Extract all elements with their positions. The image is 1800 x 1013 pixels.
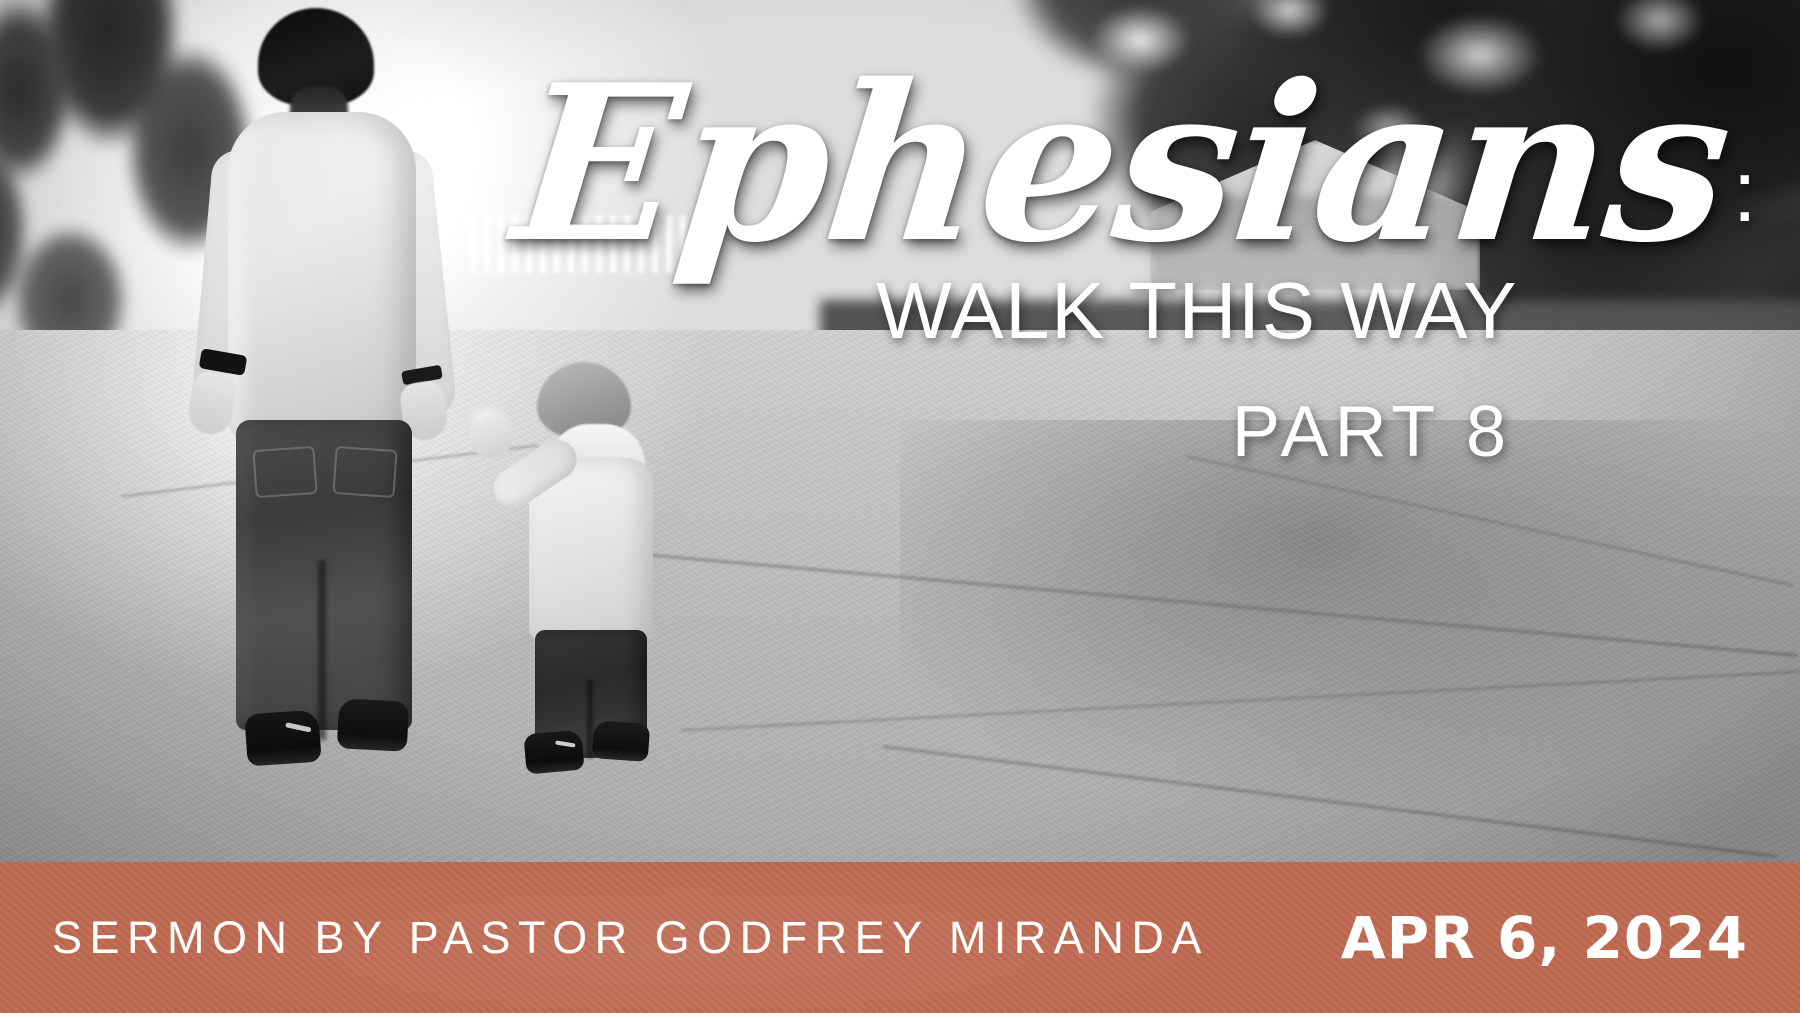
sermon-title-card: Ephesians: WALK THIS WAY PART 8 SERMON B… — [0, 0, 1800, 1013]
part-label: PART 8 — [518, 391, 1512, 473]
sermon-date: APR 6, 2024 — [1341, 904, 1748, 972]
series-title: Ephesians — [507, 56, 1738, 271]
sermon-credit: SERMON BY PASTOR GODFREY MIRANDA — [52, 912, 1209, 964]
series-title-line: Ephesians: — [518, 56, 1518, 271]
footer-bar: SERMON BY PASTOR GODFREY MIRANDA APR 6, … — [0, 862, 1800, 1013]
title-block: Ephesians: WALK THIS WAY PART 8 — [518, 56, 1518, 473]
series-title-colon: : — [1733, 144, 1757, 240]
